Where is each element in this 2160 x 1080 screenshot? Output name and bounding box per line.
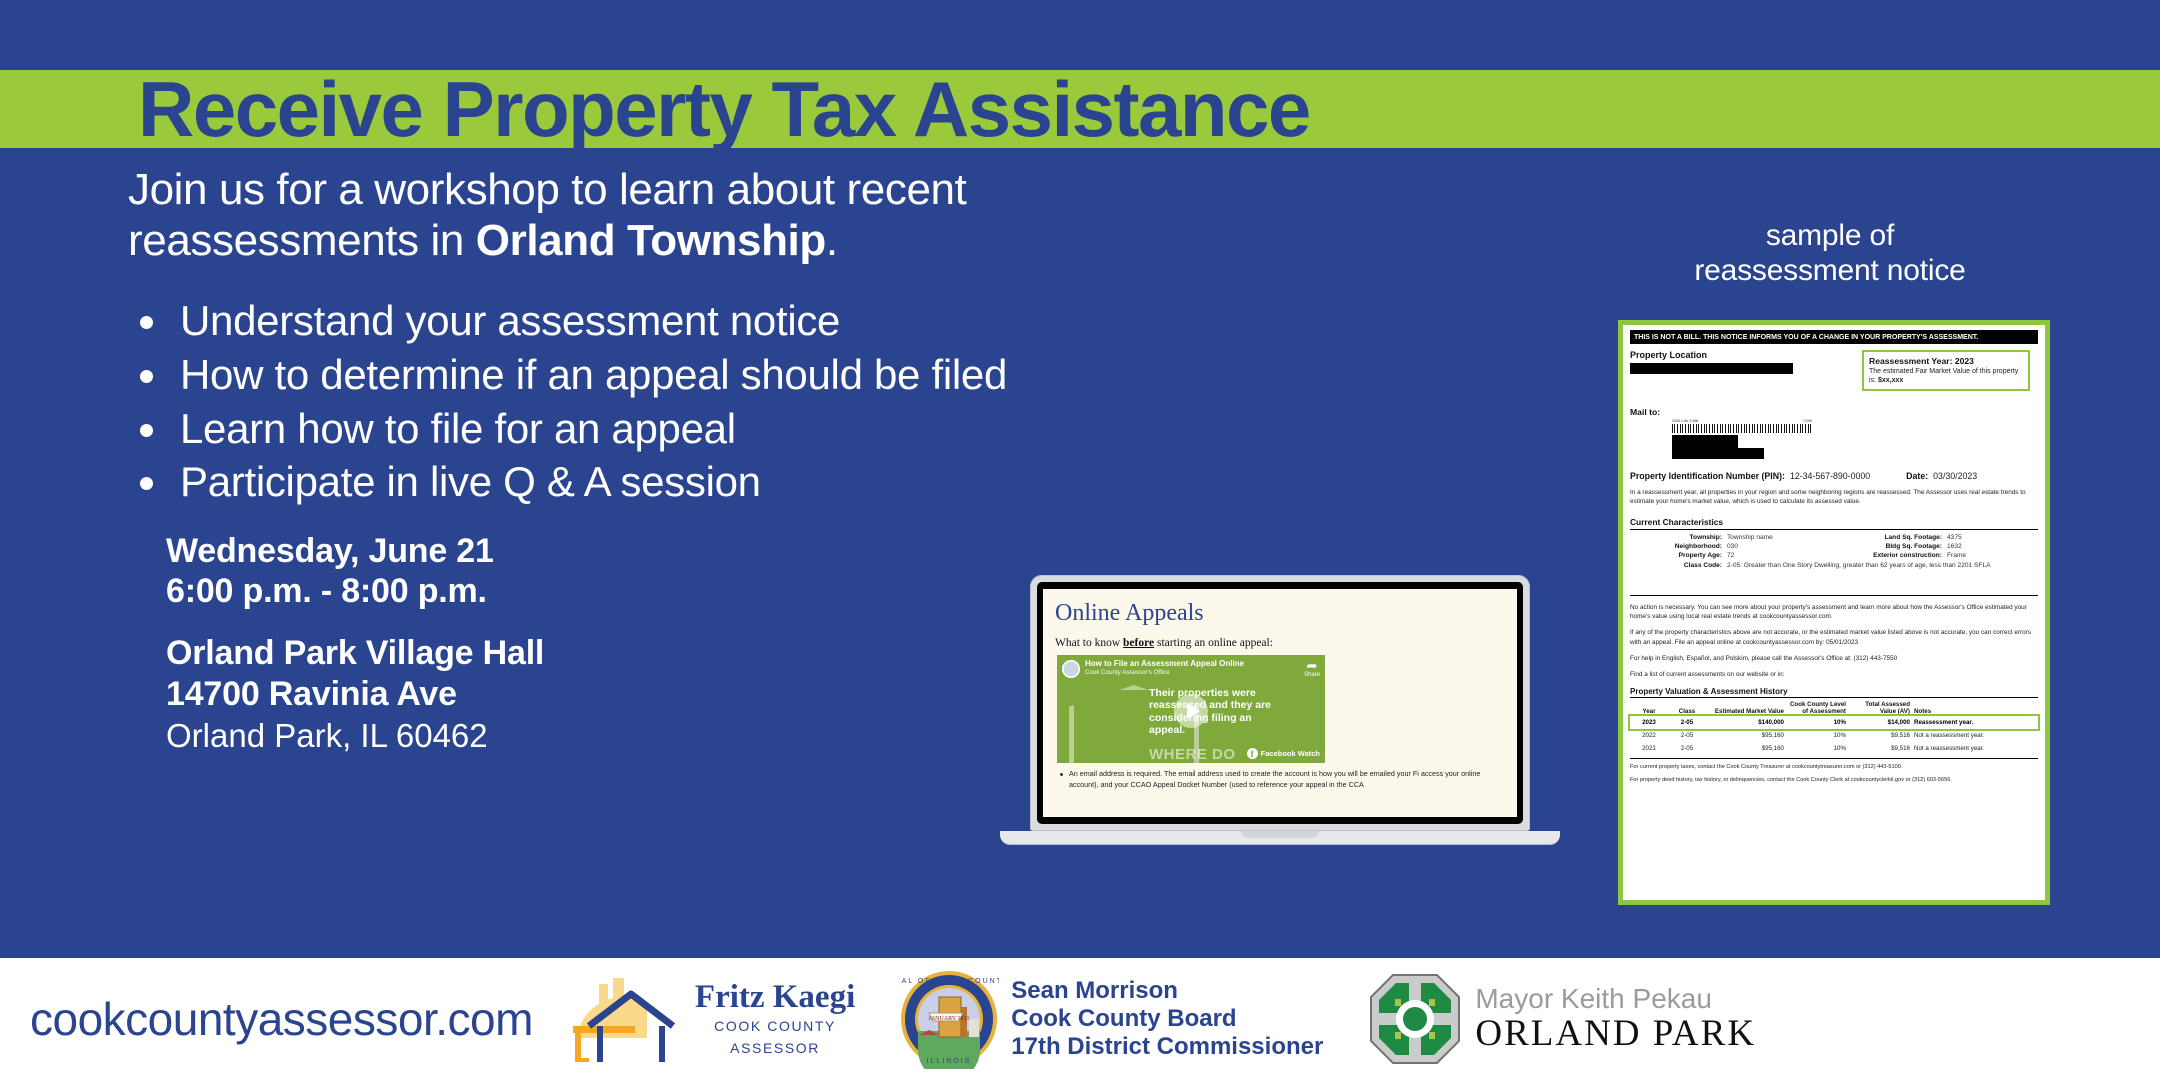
kaegi-subtitle-line2: ASSESSOR: [695, 1039, 855, 1057]
video-caption: Their properties were reassessed and the…: [1149, 687, 1279, 737]
pin-label: Property Identification Number (PIN):: [1630, 471, 1785, 481]
svg-text:JANUARY 1831: JANUARY 1831: [929, 1016, 970, 1022]
valuation-history-heading: Property Valuation & Assessment History: [1630, 687, 2038, 698]
laptop-bezel: Online Appeals What to know before start…: [1037, 582, 1523, 824]
characteristic-key: Neighborhood:: [1630, 543, 1722, 550]
cell-av: $9,516: [1848, 742, 1912, 755]
event-details: Wednesday, June 21 6:00 p.m. - 8:00 p.m.…: [166, 531, 1158, 756]
facebook-icon: f: [1247, 748, 1258, 759]
characteristic-key: Land Sq. Footage:: [1826, 534, 1942, 541]
characteristic-row: Exterior construction: Frame: [1826, 552, 2038, 559]
notice-footer-line-2: For property deed history, tax history, …: [1630, 776, 2038, 784]
table-row: 2023 2-05 $140,000 10% $14,000 Reassessm…: [1630, 716, 2038, 729]
column-header-estimated-market-value: Estimated Market Value: [1706, 700, 1786, 716]
column-header-notes: Notes: [1912, 700, 2038, 716]
online-appeals-title: Online Appeals: [1055, 600, 1505, 627]
cook-county-seal-icon: JANUARY 1831 SEAL OF COOK COUNTY ILLINOI…: [899, 969, 999, 1069]
play-icon: [1187, 703, 1200, 719]
cell-notes: Not a reassessment year.: [1912, 742, 2038, 755]
sample-label-line1: sample of: [1620, 218, 2040, 253]
list-item: Understand your assessment notice: [128, 294, 1158, 348]
cell-class: 2-05: [1668, 729, 1706, 742]
laptop-screen: Online Appeals What to know before start…: [1043, 589, 1517, 817]
assessor-website-url[interactable]: cookcountyassessor.com: [30, 992, 533, 1046]
laptop-mockup: Online Appeals What to know before start…: [1030, 575, 1530, 844]
title-banner: Receive Property Tax Assistance: [0, 70, 2160, 148]
characteristic-value: 1632: [1947, 543, 1962, 550]
channel-avatar-icon: [1062, 660, 1080, 678]
list-item: How to determine if an appeal should be …: [128, 348, 1158, 402]
reassessment-year-line: Reassessment Year: 2023: [1869, 356, 2023, 366]
notice-footer-line-1: For current property taxes, contact the …: [1630, 763, 2038, 771]
share-button[interactable]: ➦ Share: [1304, 659, 1320, 678]
event-date: Wednesday, June 21: [166, 531, 1158, 571]
reassessment-year-value: 2023: [1955, 356, 1974, 366]
orland-park-emblem-icon: [1367, 971, 1463, 1067]
fmv-value: $xx,xxx: [1878, 377, 1903, 384]
video-embed[interactable]: How to File an Assessment Appeal Online …: [1057, 655, 1325, 763]
property-location-label: Property Location: [1630, 350, 1862, 360]
cell-av: $9,516: [1848, 729, 1912, 742]
column-header-level-of-assessment: Cook County Level of Assessment: [1786, 700, 1848, 716]
cell-class: 2-05: [1668, 716, 1706, 729]
property-location-block: Property Location: [1630, 350, 1862, 391]
notice-top-row: Property Location Reassessment Year: 202…: [1630, 350, 2038, 391]
cell-emv: $95,160: [1706, 742, 1786, 755]
cell-notes: Reassessment year.: [1912, 716, 2038, 729]
kaegi-text-block: Fritz Kaegi COOK COUNTY ASSESSOR: [695, 981, 855, 1056]
intro-paragraph: Join us for a workshop to learn about re…: [128, 165, 1158, 266]
redaction-bar: [1672, 435, 1738, 448]
table-row: 2021 2-05 $95,160 10% $9,516 Not a reass…: [1630, 742, 2038, 755]
video-title: How to File an Assessment Appeal Online: [1085, 660, 1244, 669]
characteristic-value: Township name: [1727, 534, 1773, 541]
subtitle-post: starting an online appeal:: [1154, 637, 1273, 649]
characteristic-value: Frame: [1947, 552, 1966, 559]
characteristic-row: Bldg Sq. Footage: 1632: [1826, 543, 2038, 550]
laptop-notch: [1241, 831, 1319, 838]
column-header-total-assessed-value: Total Assessed Value (AV): [1848, 700, 1912, 716]
characteristic-row: Land Sq. Footage: 4375: [1826, 534, 2038, 541]
redaction-bar: [1630, 363, 1793, 374]
online-appeals-subtitle: What to know before starting an online a…: [1055, 637, 1505, 649]
sample-label-line2: reassessment notice: [1620, 253, 2040, 288]
notice-date-label: Date:: [1906, 471, 1928, 481]
left-content: Join us for a workshop to learn about re…: [128, 165, 1158, 756]
list-item: Participate in live Q & A session: [128, 455, 1158, 509]
column-header-class: Class: [1668, 700, 1706, 716]
page-title: Receive Property Tax Assistance: [138, 70, 1310, 148]
facebook-watch-label: Facebook Watch: [1261, 749, 1320, 758]
characteristic-key: Bldg Sq. Footage:: [1826, 543, 1942, 550]
event-time: 6:00 p.m. - 8:00 p.m.: [166, 571, 1158, 611]
characteristic-row: Property Age: 72: [1630, 552, 1826, 559]
appeal-paragraph: If any of the property characteristics a…: [1630, 628, 2038, 647]
column-header-year: Year: [1630, 700, 1668, 716]
reassessment-explainer: In a reassessment year, all properties i…: [1630, 488, 2038, 507]
reassessment-notice-document: THIS IS NOT A BILL. THIS NOTICE INFORMS …: [1618, 320, 2050, 905]
cell-loa: 10%: [1786, 729, 1848, 742]
svg-text:ILLINOIS: ILLINOIS: [927, 1058, 972, 1065]
class-code-value: 2-05: Greater than One Story Dwelling, g…: [1727, 562, 1991, 569]
table-header-row: Year Class Estimated Market Value Cook C…: [1630, 700, 2038, 716]
video-channel: Cook County Assessor's Office: [1085, 669, 1244, 676]
section-divider: [1630, 595, 2038, 596]
cell-year: 2022: [1630, 729, 1668, 742]
characteristic-key: Property Age:: [1630, 552, 1722, 559]
kaegi-name: Fritz Kaegi: [695, 981, 855, 1014]
kaegi-subtitle-line1: COOK COUNTY: [695, 1017, 855, 1035]
characteristic-row: Neighborhood: 030: [1630, 543, 1826, 550]
characteristic-key: Township:: [1630, 534, 1722, 541]
flyer-canvas: Receive Property Tax Assistance Join us …: [0, 0, 2160, 1080]
laptop-lid: Online Appeals What to know before start…: [1030, 575, 1530, 831]
cell-year: 2023: [1630, 716, 1668, 729]
cell-loa: 10%: [1786, 716, 1848, 729]
svg-text:SEAL OF COOK COUNTY: SEAL OF COOK COUNTY: [899, 978, 999, 985]
video-headline-line1: WHERE DO: [1149, 747, 1255, 763]
laptop-base: [1000, 831, 1560, 844]
class-code-row: Class Code: 2-05: Greater than One Story…: [1630, 562, 2038, 569]
table-row: 2022 2-05 $95,160 10% $9,516 Not a reass…: [1630, 729, 2038, 742]
barcode-codes: 2265 1 AV 0.468 C295: [1672, 419, 1812, 423]
cell-emv: $140,000: [1706, 716, 1786, 729]
characteristic-value: 72: [1727, 552, 1734, 559]
redaction-bar: [1672, 448, 1764, 459]
event-city-state-zip: Orland Park, IL 60462: [166, 716, 1158, 756]
cell-av: $14,000: [1848, 716, 1912, 729]
reassessment-year-label: Reassessment Year:: [1869, 356, 1952, 366]
facebook-watch-badge: f Facebook Watch: [1247, 748, 1320, 759]
intro-tail: .: [826, 216, 838, 265]
list-item: An email address is required. The email …: [1055, 769, 1505, 791]
orland-mayor-name: Mayor Keith Pekau: [1475, 985, 1756, 1013]
mail-to-label: Mail to:: [1630, 407, 2038, 417]
orland-park-logo: Mayor Keith Pekau ORLAND PARK: [1367, 971, 1756, 1067]
notice-banner: THIS IS NOT A BILL. THIS NOTICE INFORMS …: [1630, 330, 2038, 344]
event-street: 14700 Ravinia Ave: [166, 674, 1158, 714]
cell-year: 2021: [1630, 742, 1668, 755]
characteristic-value: 4375: [1947, 534, 1962, 541]
video-meta: How to File an Assessment Appeal Online …: [1085, 660, 1244, 676]
valuation-history-table: Year Class Estimated Market Value Cook C…: [1630, 700, 2038, 755]
share-icon: ➦: [1304, 659, 1320, 672]
characteristics-left-column: Township: Township name Neighborhood: 03…: [1630, 534, 1826, 561]
class-code-label: Class Code:: [1630, 562, 1722, 569]
sample-notice-label: sample of reassessment notice: [1620, 218, 2040, 289]
orland-text-block: Mayor Keith Pekau ORLAND PARK: [1475, 985, 1756, 1054]
characteristic-key: Exterior construction:: [1826, 552, 1942, 559]
help-paragraph: For help in English, Español, and Polski…: [1630, 654, 2038, 663]
cell-loa: 10%: [1786, 742, 1848, 755]
topics-list: Understand your assessment notice How to…: [128, 294, 1158, 509]
notice-date-value: 03/30/2023: [1933, 471, 1977, 481]
subtitle-emphasis: before: [1123, 637, 1154, 649]
event-venue: Orland Park Village Hall: [166, 633, 1158, 673]
morrison-text-block: Sean Morrison Cook County Board 17th Dis…: [1011, 977, 1323, 1062]
play-button[interactable]: [1174, 694, 1208, 728]
video-header: How to File an Assessment Appeal Online …: [1057, 655, 1325, 682]
morrison-name: Sean Morrison: [1011, 977, 1323, 1005]
subtitle-pre: What to know: [1055, 637, 1123, 649]
mailing-block: 2265 1 AV 0.468 C295: [1672, 419, 2038, 459]
pin-row: Property Identification Number (PIN): 12…: [1630, 471, 2038, 481]
notice-page: THIS IS NOT A BILL. THIS NOTICE INFORMS …: [1623, 325, 2045, 900]
cell-emv: $95,160: [1706, 729, 1786, 742]
characteristics-table: Township: Township name Neighborhood: 03…: [1630, 534, 2038, 561]
list-item: Learn how to file for an appeal: [128, 402, 1158, 456]
reassessment-year-box: Reassessment Year: 2023 The estimated Fa…: [1862, 350, 2030, 391]
orland-park-wordmark: ORLAND PARK: [1475, 1015, 1756, 1054]
no-action-paragraph: No action is necessary. You can see more…: [1630, 603, 2038, 622]
find-list-paragraph: Find a list of current assessments on ou…: [1630, 670, 2038, 679]
morrison-district: 17th District Commissioner: [1011, 1033, 1323, 1061]
share-label: Share: [1304, 672, 1320, 678]
characteristics-right-column: Land Sq. Footage: 4375 Bldg Sq. Footage:…: [1826, 534, 2038, 561]
morrison-board: Cook County Board: [1011, 1005, 1323, 1033]
characteristic-value: 030: [1727, 543, 1738, 550]
barcode-right-code: C295: [1803, 419, 1812, 423]
cell-notes: Not a reassessment year.: [1912, 729, 2038, 742]
fmv-line: The estimated Fair Market Value of this …: [1869, 367, 2023, 385]
pin-value: 12-34-567-890-0000: [1790, 471, 1870, 481]
intro-township: Orland Township: [476, 216, 826, 265]
sean-morrison-block: JANUARY 1831 SEAL OF COOK COUNTY ILLINOI…: [899, 969, 1323, 1069]
barcode-left-code: 2265 1 AV 0.468: [1672, 419, 1698, 423]
characteristic-row: Township: Township name: [1630, 534, 1826, 541]
assessor-house-icon: [569, 976, 687, 1062]
event-spacer: [166, 611, 1158, 633]
current-characteristics-heading: Current Characteristics: [1630, 517, 2038, 530]
postal-barcode: [1672, 424, 1812, 433]
footer-bar: cookcountyassessor.com Fritz Kaegi COOK …: [0, 958, 2160, 1080]
video-headline: WHERE DO THEY BEGIN?: [1149, 747, 1255, 763]
cell-class: 2-05: [1668, 742, 1706, 755]
fritz-kaegi-logo: Fritz Kaegi COOK COUNTY ASSESSOR: [569, 976, 855, 1062]
table-bottom-divider: [1630, 758, 2038, 759]
